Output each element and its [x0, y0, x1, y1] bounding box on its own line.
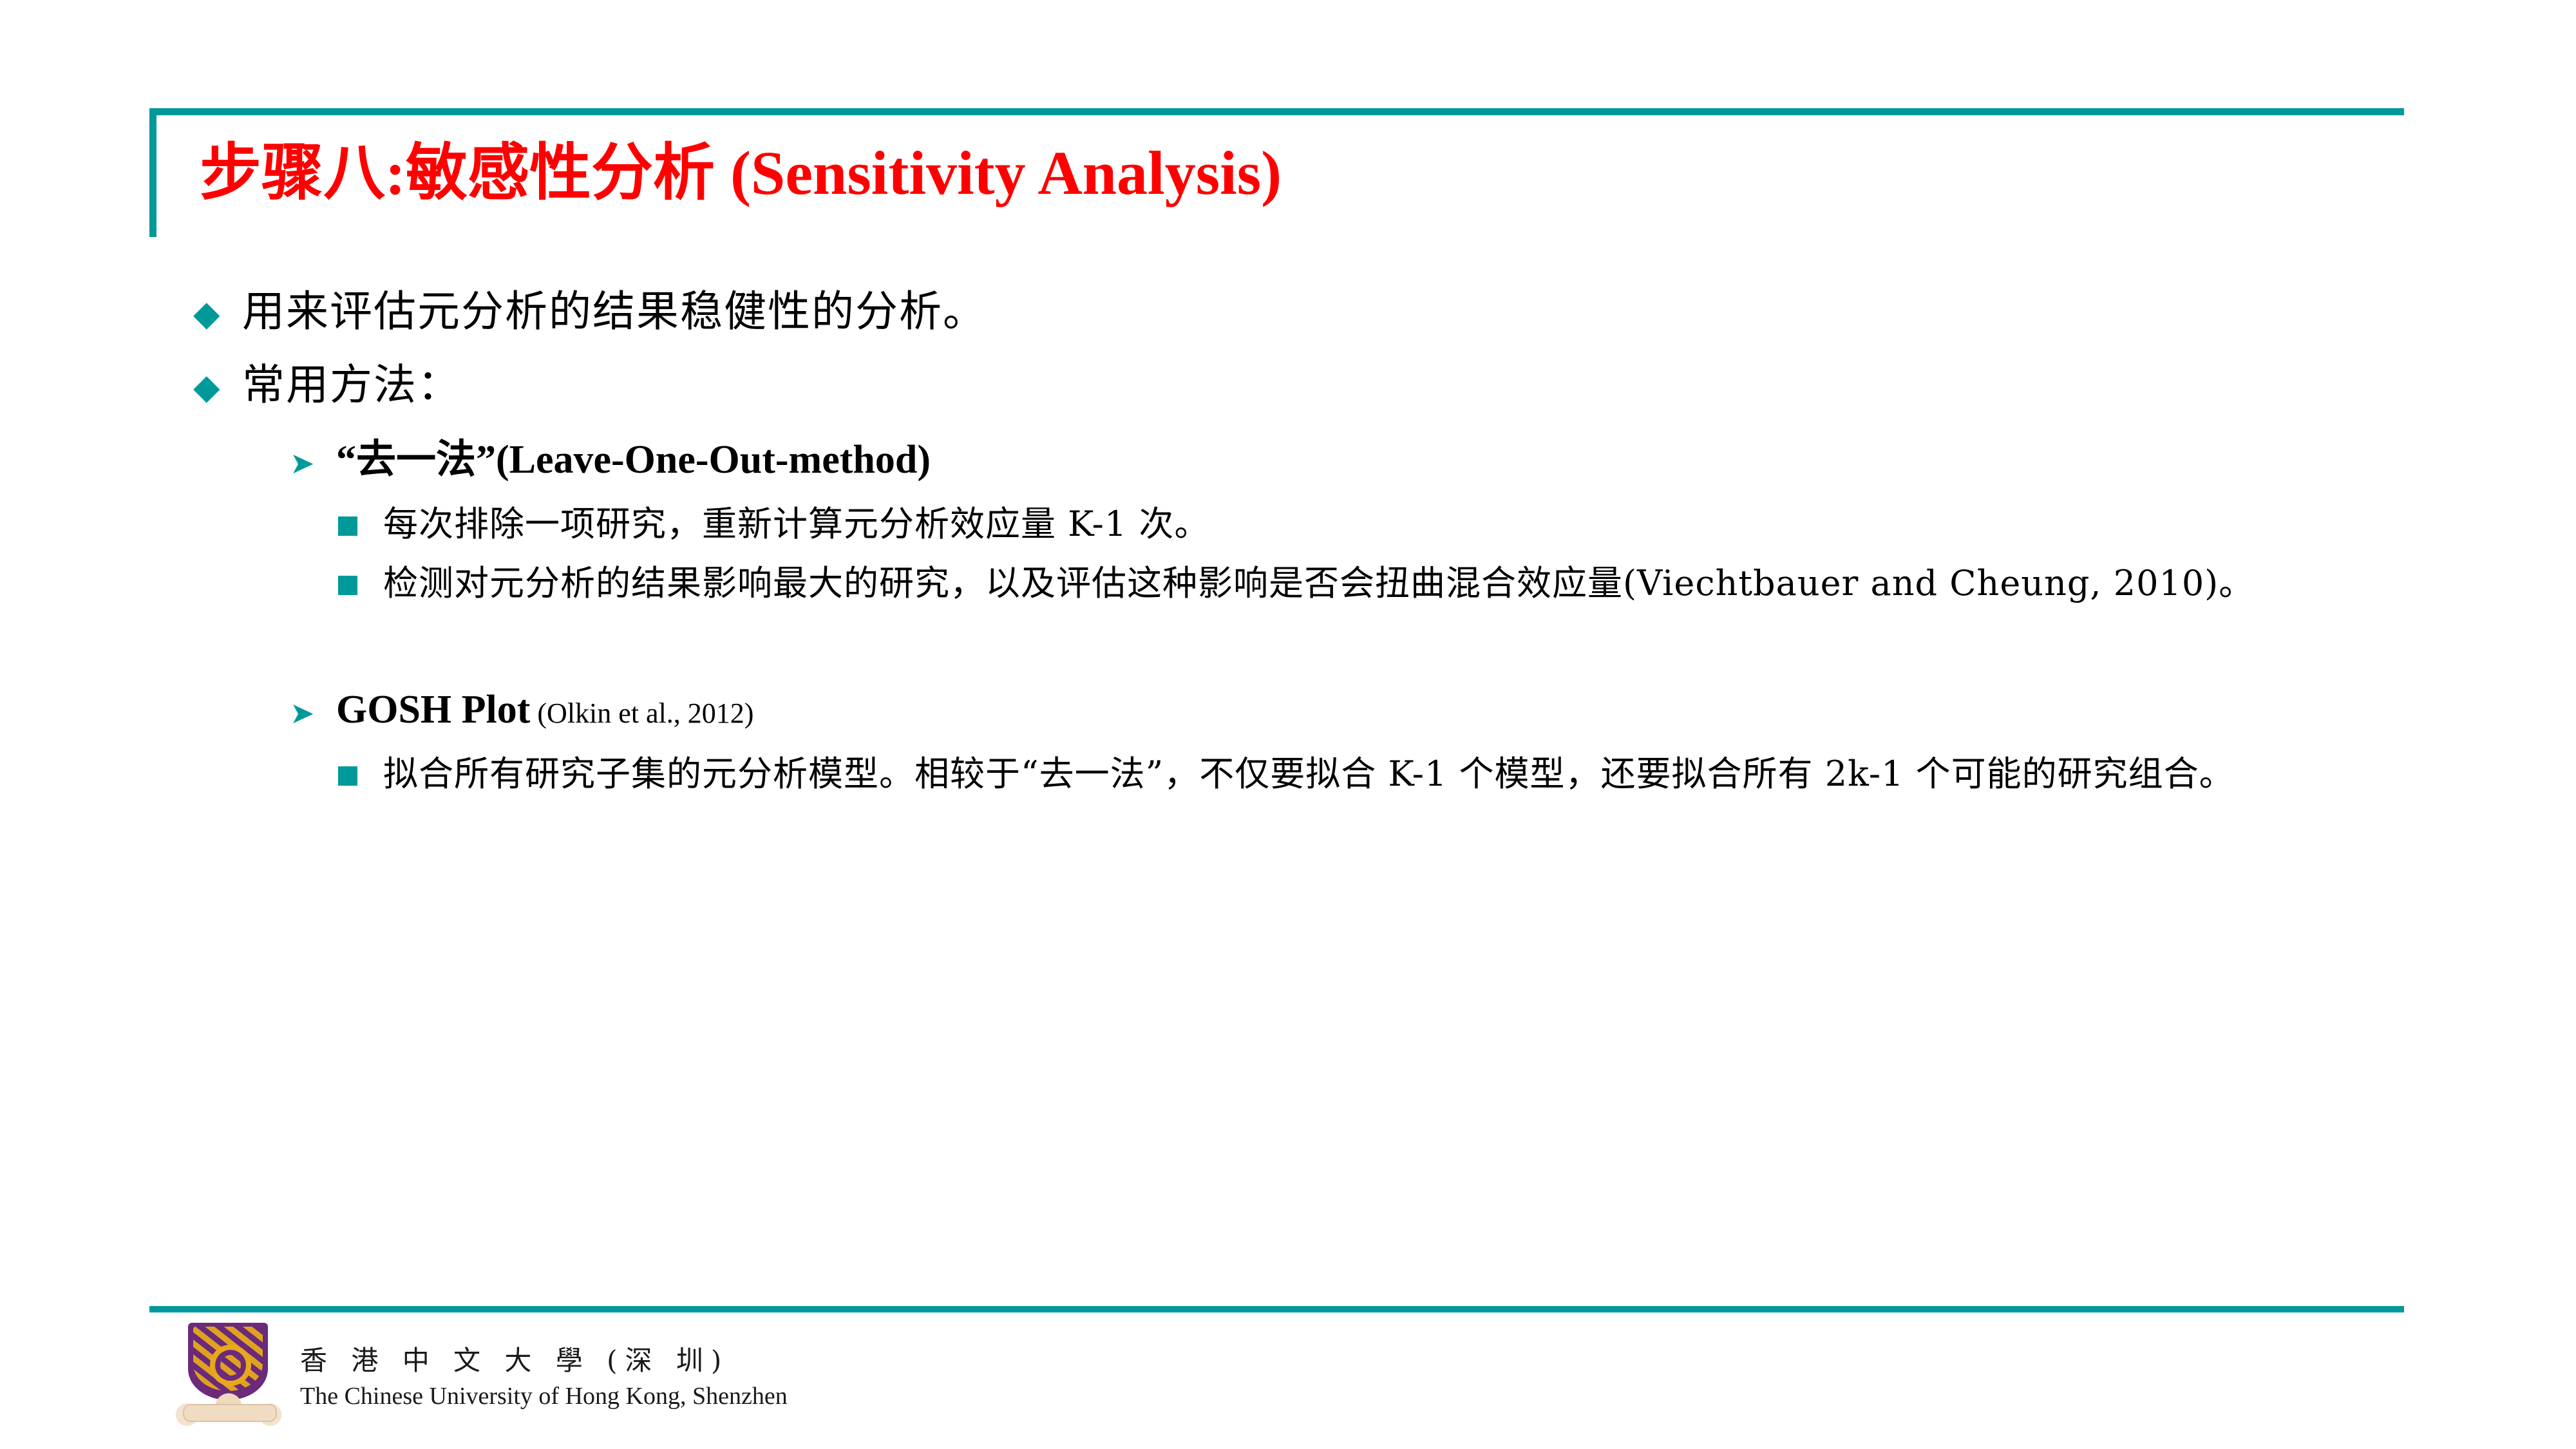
bullet-level3-item: 拟合所有研究子集的元分析模型。相较于“去一法”，不仅要拟合 K-1 个模型，还要… — [338, 750, 2576, 799]
bullet-level1-label: 常用方法： — [242, 357, 461, 413]
bullet-level2-label: GOSH Plot (Olkin et al., 2012) — [336, 680, 753, 743]
footer-rule — [149, 1306, 2404, 1312]
bullet-level3-label: 拟合所有研究子集的元分析模型。相较于“去一法”，不仅要拟合 K-1 个模型，还要… — [383, 750, 2235, 799]
diamond-bullet-icon: ◆ — [193, 357, 242, 415]
diamond-bullet-icon: ◆ — [193, 283, 242, 341]
square-bullet-icon — [338, 559, 383, 595]
bullet-level3-label: 每次排除一项研究，重新计算元分析效应量 K-1 次。 — [383, 500, 1209, 549]
gosh-plot-citation: (Olkin et al., 2012) — [530, 697, 753, 729]
university-name-cn: 香 港 中 文 大 學 (深 圳) — [300, 1344, 788, 1378]
page-title: 步骤八:敏感性分析 (Sensitivity Analysis) — [200, 138, 2325, 208]
slide-canvas: 步骤八:敏感性分析 (Sensitivity Analysis) ◆ 用来评估元… — [0, 0, 2576, 1449]
spacer — [0, 618, 2576, 680]
arrow-bullet-icon: ➤ — [290, 430, 336, 493]
gosh-plot-title: GOSH Plot — [336, 688, 530, 732]
university-name-en: The Chinese University of Hong Kong, She… — [300, 1381, 788, 1412]
crest-shield — [188, 1323, 268, 1400]
square-bullet-icon — [338, 750, 383, 786]
bullet-level1-label: 用来评估元分析的结果稳健性的分析。 — [242, 283, 987, 340]
bullet-level1-item: ◆ 常用方法： — [193, 357, 2576, 415]
cuhk-shenzhen-crest-icon — [174, 1320, 283, 1436]
bullet-level3-item: 每次排除一项研究，重新计算元分析效应量 K-1 次。 — [338, 500, 2576, 549]
title-rule-left — [149, 108, 156, 237]
title-rule-top — [149, 108, 2404, 115]
arrow-bullet-icon: ➤ — [290, 680, 336, 743]
square-bullet-icon — [338, 500, 383, 536]
bullet-level2-item-leave-one-out: ➤ “去一法”(Leave-One-Out-method) — [290, 430, 2576, 493]
slide-body: ◆ 用来评估元分析的结果稳健性的分析。 ◆ 常用方法： ➤ “去一法”(Leav… — [0, 283, 2576, 809]
crest-scroll — [174, 1392, 283, 1430]
bullet-level3-label: 检测对元分析的结果影响最大的研究，以及评估这种影响是否会扭曲混合效应量(Viec… — [383, 559, 2254, 608]
footer-text: 香 港 中 文 大 學 (深 圳) The Chinese University… — [300, 1344, 788, 1412]
bullet-level2-label: “去一法”(Leave-One-Out-method) — [336, 430, 931, 489]
footer: 香 港 中 文 大 學 (深 圳) The Chinese University… — [174, 1320, 788, 1436]
bullet-level2-item-gosh-plot: ➤ GOSH Plot (Olkin et al., 2012) — [290, 680, 2576, 743]
bullet-level1-item: ◆ 用来评估元分析的结果稳健性的分析。 — [193, 283, 2576, 341]
bullet-level3-item: 检测对元分析的结果影响最大的研究，以及评估这种影响是否会扭曲混合效应量(Viec… — [338, 559, 2576, 608]
